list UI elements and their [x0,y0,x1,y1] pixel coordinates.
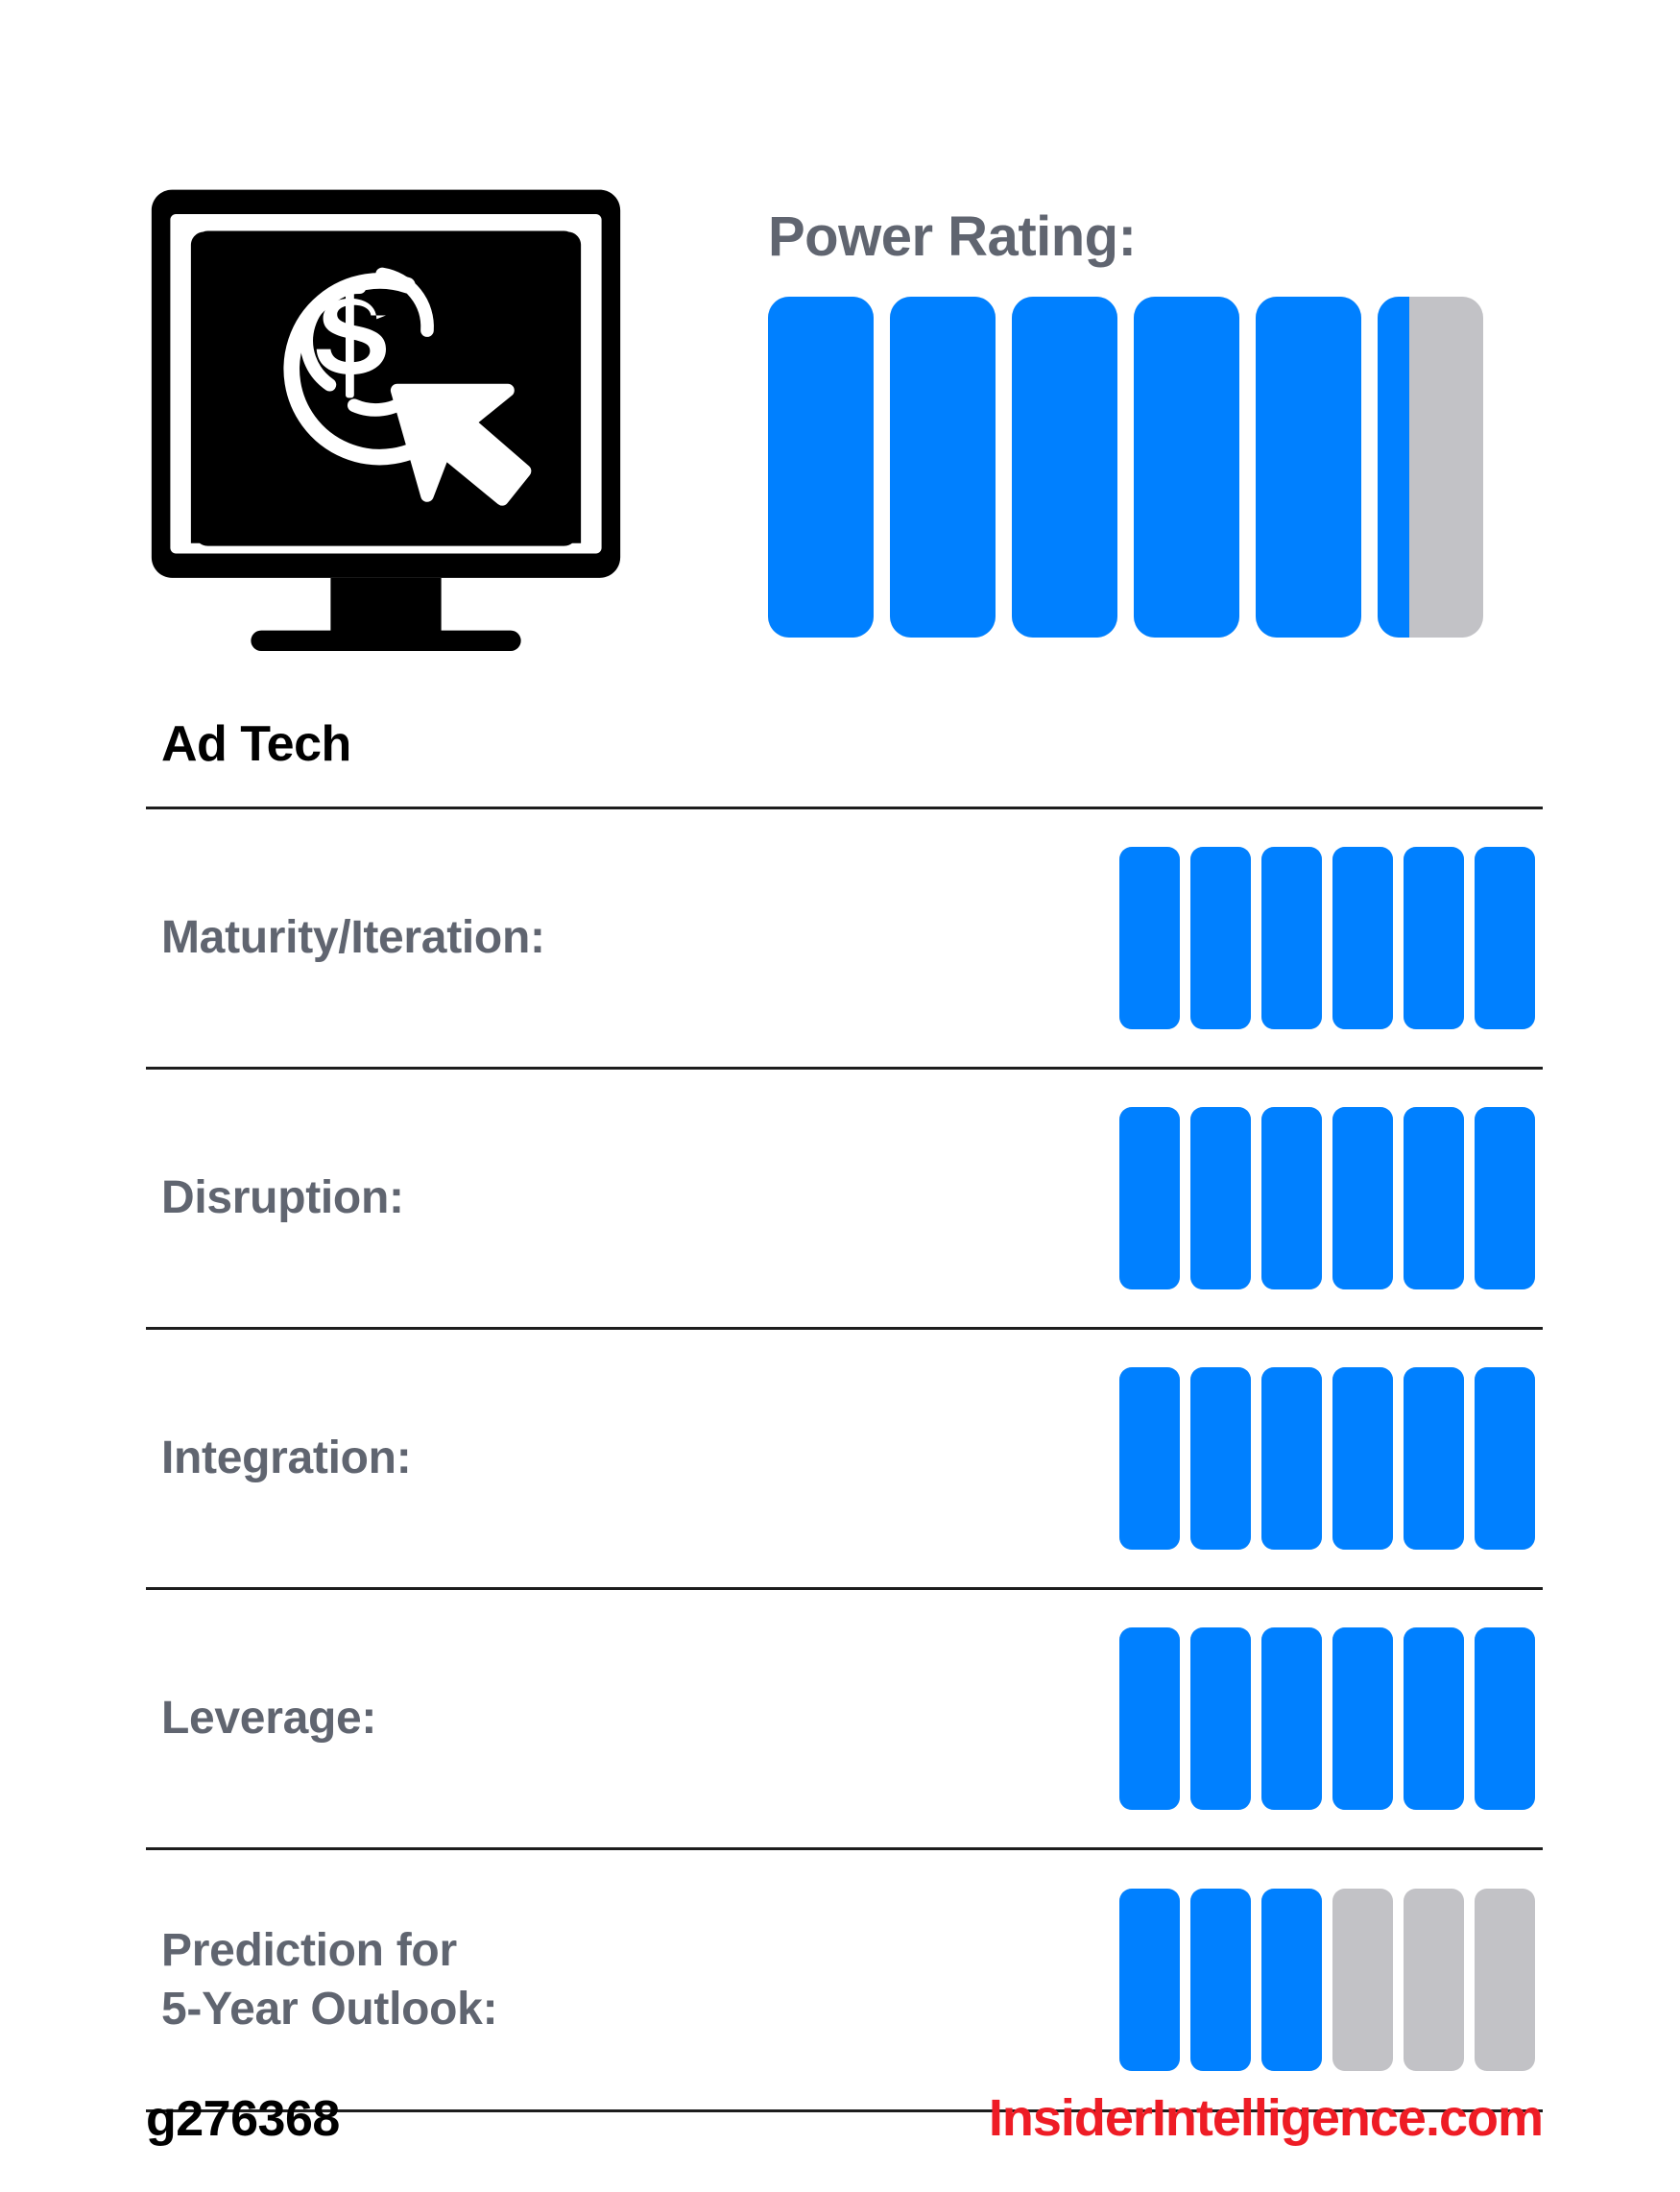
metric-bar-segment [1190,1107,1251,1289]
metric-bar-segment [1475,1627,1535,1810]
metric-bar-segment [1261,1367,1322,1550]
power-rating-bars [768,297,1536,638]
metric-bar-segment-fill [1261,847,1322,1029]
metric-table: Maturity/Iteration:Disruption:Integratio… [146,807,1543,2112]
table-row: Maturity/Iteration: [146,809,1543,1067]
metric-label-line: Maturity/Iteration: [161,908,545,967]
table-row: Prediction for5-Year Outlook: [146,1850,1543,2109]
metric-label-line: Disruption: [161,1168,404,1227]
metric-bar-segment-fill [1119,847,1180,1029]
metric-bar-segment-fill [1119,1627,1180,1810]
metric-bar-segment-fill [1190,1367,1251,1550]
metric-bar-segment [1261,847,1322,1029]
metric-bar-segment [1119,1107,1180,1289]
metric-bar-segment [1404,1627,1464,1810]
power-rating-bar-segment [1012,297,1117,638]
metric-bar-segment-fill [1404,1107,1464,1289]
metric-label: Disruption: [161,1168,404,1227]
ad-tech-monitor-icon [146,173,626,653]
metric-bar-segment-fill [1332,847,1393,1029]
power-rating-bar-segment-fill [768,297,874,638]
metric-bar-segment [1332,1889,1393,2071]
power-rating-bar-segment [890,297,996,638]
power-rating-bar-segment-fill [1256,297,1361,638]
table-row: Leverage: [146,1590,1543,1847]
metric-bar-segment [1475,1367,1535,1550]
metric-bar-segment-fill [1190,847,1251,1029]
metric-bar-segment-fill [1404,1627,1464,1810]
header-section: Power Rating: [0,0,1680,711]
power-rating-bar-segment-fill [1378,297,1409,638]
metric-label-line: Leverage: [161,1689,376,1747]
metric-bar-segment [1119,1367,1180,1550]
metric-bar-segment-fill [1261,1889,1322,2071]
metric-bar-segment [1261,1107,1322,1289]
power-rating-bar-segment [1378,297,1483,638]
metric-bars [1119,1107,1535,1289]
table-row: Disruption: [146,1070,1543,1327]
metric-bar-segment [1190,847,1251,1029]
metric-bar-segment [1119,1627,1180,1810]
metric-bar-segment [1404,1889,1464,2071]
metric-bar-segment [1404,1367,1464,1550]
metric-label-line: 5-Year Outlook: [161,1980,497,2038]
metric-label: Maturity/Iteration: [161,908,545,967]
metric-bar-segment [1119,1889,1180,2071]
metric-label: Integration: [161,1429,411,1487]
metric-bar-segment [1332,1107,1393,1289]
metric-bar-segment [1404,847,1464,1029]
metric-bar-segment [1190,1889,1251,2071]
metric-bars [1119,1627,1535,1810]
metric-label-line: Integration: [161,1429,411,1487]
chart-id: g276368 [146,2090,340,2148]
metric-label-line: Prediction for [161,1921,497,1980]
metric-bar-segment [1475,847,1535,1029]
brand-link[interactable]: InsiderIntelligence.com [989,2088,1543,2148]
metric-bar-segment-fill [1119,1367,1180,1550]
metric-bar-segment-fill [1261,1107,1322,1289]
metric-bar-segment [1332,847,1393,1029]
metric-bar-segment-fill [1475,1367,1535,1550]
infographic-page: Power Rating: Ad Tech Maturity/Iteration… [0,0,1680,2192]
metric-bar-segment-fill [1475,1627,1535,1810]
metric-bar-segment [1475,1107,1535,1289]
metric-bar-segment-fill [1332,1627,1393,1810]
power-rating-bar-segment [1134,297,1239,638]
metric-bar-segment-fill [1190,1107,1251,1289]
metric-bar-segment-fill [1404,1367,1464,1550]
metric-bar-segment [1190,1627,1251,1810]
metric-bar-segment-fill [1332,1367,1393,1550]
metric-bar-segment-fill [1475,847,1535,1029]
metric-bar-segment [1190,1367,1251,1550]
metric-bars [1119,1367,1535,1550]
table-row: Integration: [146,1330,1543,1587]
metric-bar-segment [1261,1889,1322,2071]
power-rating-bar-segment-fill [890,297,996,638]
footer: g276368 InsiderIntelligence.com [146,2088,1543,2148]
metric-bar-segment-fill [1404,847,1464,1029]
metric-bar-segment-fill [1475,1107,1535,1289]
metric-bar-segment-fill [1332,1107,1393,1289]
metric-bar-segment [1404,1107,1464,1289]
metric-bar-segment-fill [1119,1107,1180,1289]
metric-bar-segment-fill [1190,1889,1251,2071]
power-rating-label: Power Rating: [768,206,1536,268]
metric-bar-segment-fill [1261,1627,1322,1810]
metric-bar-segment [1332,1627,1393,1810]
metric-label: Leverage: [161,1689,376,1747]
metric-bars [1119,1889,1535,2071]
power-rating-block: Power Rating: [768,206,1536,638]
metric-bar-segment [1261,1627,1322,1810]
metric-bar-segment [1119,847,1180,1029]
metric-bar-segment-fill [1190,1627,1251,1810]
metric-bar-segment-fill [1119,1889,1180,2071]
metric-bar-segment [1475,1889,1535,2071]
metric-rows-host: Maturity/Iteration:Disruption:Integratio… [146,809,1543,2112]
power-rating-bar-segment [768,297,874,638]
metric-label: Prediction for5-Year Outlook: [161,1921,497,2039]
power-rating-bar-segment-fill [1134,297,1239,638]
metric-bars [1119,847,1535,1029]
metric-bar-segment-fill [1261,1367,1322,1550]
power-rating-bar-segment-fill [1012,297,1117,638]
power-rating-bar-segment [1256,297,1361,638]
page-title: Ad Tech [161,715,351,773]
metric-bar-segment [1332,1367,1393,1550]
